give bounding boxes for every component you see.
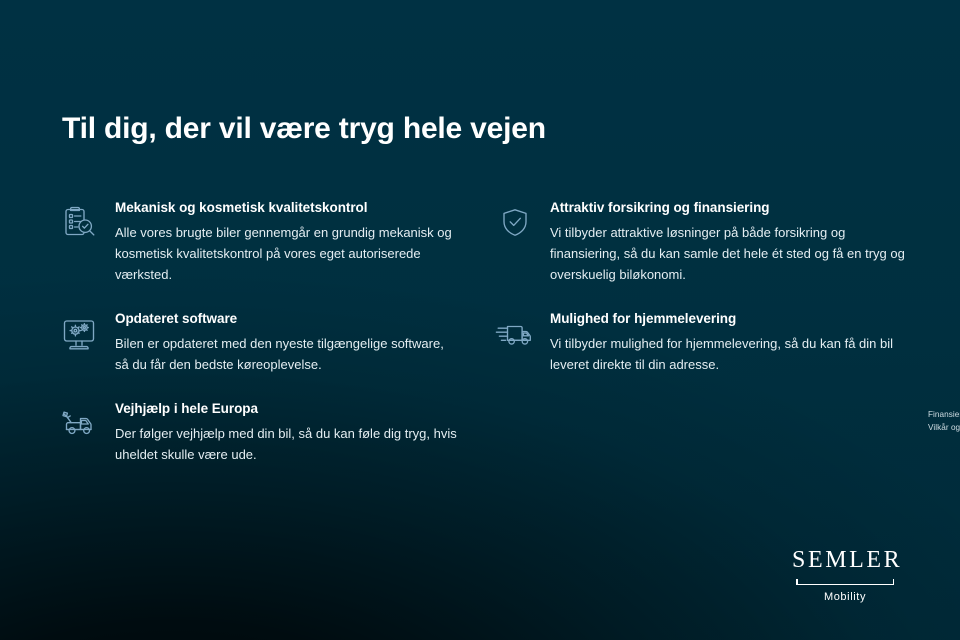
feature-title: Mekanisk og kosmetisk kvalitetskontrol xyxy=(115,200,458,217)
features-column-left: Mekanisk og kosmetisk kvalitetskontrol A… xyxy=(58,200,458,491)
tow-truck-icon xyxy=(58,404,102,444)
clipboard-magnifier-icon xyxy=(58,203,102,243)
feature-insurance-financing: Attraktiv forsikring og finansiering Vi … xyxy=(493,200,908,285)
feature-title: Mulighed for hjemmelevering xyxy=(550,311,908,328)
feature-roadside-assistance: Vejhjælp i hele Europa Der følger vejhjæ… xyxy=(58,401,458,465)
slide-root: Til dig, der vil være tryg hele vejen xyxy=(0,0,960,640)
feature-title: Opdateret software xyxy=(115,311,458,328)
logo-tick-right xyxy=(893,579,895,585)
features-column-right: Attraktiv forsikring og finansiering Vi … xyxy=(493,200,908,401)
feature-quality-control: Mekanisk og kosmetisk kvalitetskontrol A… xyxy=(58,200,458,285)
disclaimer-line-1: Finansiering tilbydes via VWSF. Forsikri… xyxy=(928,408,960,421)
feature-body: Vi tilbyder attraktive løsninger på både… xyxy=(550,222,908,285)
feature-updated-software: Opdateret software Bilen er opdateret me… xyxy=(58,311,458,375)
disclaimer-line-2-text: Vilkår og begrænsninger gælder. Læs mere… xyxy=(928,423,960,432)
feature-body: Der følger vejhjælp med din bil, så du k… xyxy=(115,423,458,465)
logo-wordmark: SEMLER xyxy=(789,548,901,572)
semler-mobility-logo: SEMLER Mobility xyxy=(789,548,901,603)
feature-body: Vi tilbyder mulighed for hjemmelevering,… xyxy=(550,333,908,375)
logo-subtitle: Mobility xyxy=(789,591,901,603)
monitor-gears-icon xyxy=(58,314,102,354)
logo-tick-left xyxy=(796,579,798,585)
feature-title: Attraktiv forsikring og finansiering xyxy=(550,200,908,217)
logo-divider xyxy=(796,579,894,585)
delivery-truck-icon xyxy=(493,314,537,354)
feature-body: Alle vores brugte biler gennemgår en gru… xyxy=(115,222,458,285)
page-title: Til dig, der vil være tryg hele vejen xyxy=(62,112,546,146)
feature-title: Vejhjælp i hele Europa xyxy=(115,401,458,418)
shield-check-icon xyxy=(493,203,537,243)
disclaimer-line-2: Vilkår og begrænsninger gælder. Læs mere… xyxy=(928,421,960,434)
legal-disclaimer: Finansiering tilbydes via VWSF. Forsikri… xyxy=(928,408,960,435)
feature-home-delivery: Mulighed for hjemmelevering Vi tilbyder … xyxy=(493,311,908,375)
feature-body: Bilen er opdateret med den nyeste tilgæn… xyxy=(115,333,458,375)
